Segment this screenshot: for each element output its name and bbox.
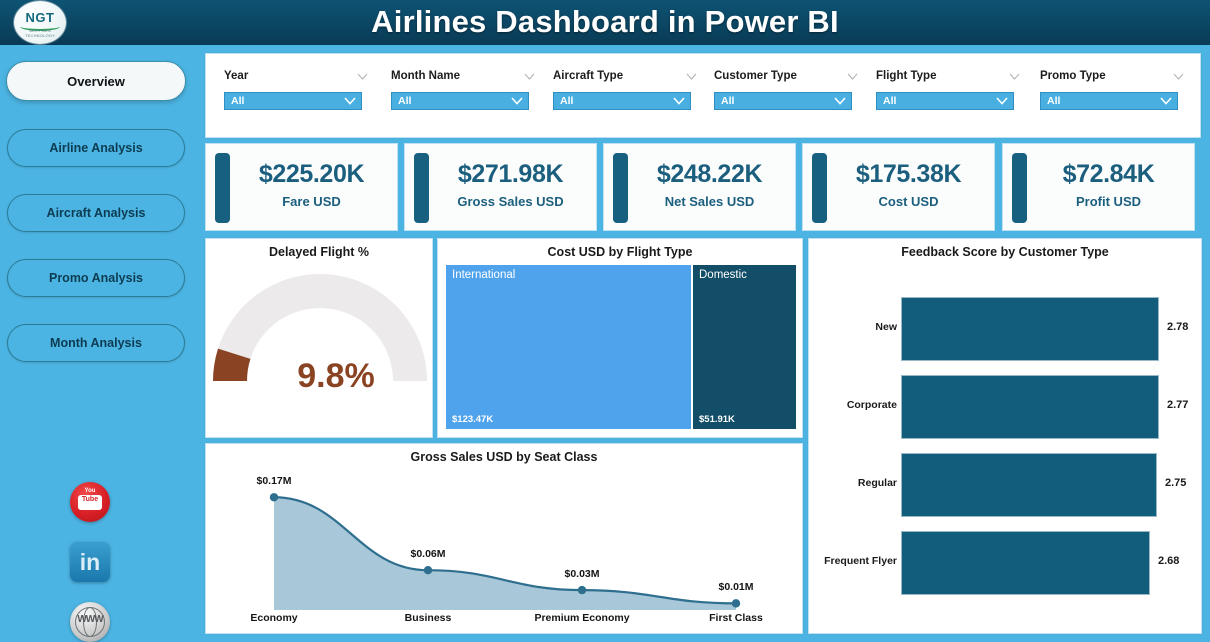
bar-rect[interactable] xyxy=(901,453,1157,517)
bar-rect[interactable] xyxy=(901,531,1150,595)
gauge-delayed-flight-pct[interactable]: Delayed Flight % 9.8% xyxy=(205,238,433,438)
sidebar-item-overview[interactable]: Overview xyxy=(6,61,186,101)
chevron-down-icon xyxy=(686,73,697,80)
slicer-customer-type-value[interactable]: All xyxy=(714,92,852,110)
bar-row-regular: Regular 2.75 xyxy=(809,447,1203,525)
area-point-label: $0.03M xyxy=(556,568,608,580)
chevron-down-icon xyxy=(524,73,535,80)
page-title: Airlines Dashboard in Power BI xyxy=(0,0,1210,45)
area-axis-tick-label: Economy xyxy=(219,612,329,624)
treemap-cell-value: $123.47K xyxy=(452,414,493,425)
slicer-year[interactable]: Year All xyxy=(224,70,376,122)
area-data-point[interactable] xyxy=(578,586,586,594)
bar-value-label: 2.68 xyxy=(1158,555,1179,567)
treemap-cell-international[interactable]: International $123.47K xyxy=(446,265,691,429)
gauge-value-label: 9.8% xyxy=(206,357,432,396)
area-axis-tick-label: Business xyxy=(373,612,483,624)
slicer-flight-type[interactable]: Flight Type All xyxy=(876,70,1028,122)
bar-row-new: New 2.78 xyxy=(809,291,1203,369)
bar-category-label: Regular xyxy=(817,477,897,489)
sidebar: Overview Airline Analysis Aircraft Analy… xyxy=(0,45,197,642)
kpi-accent-bar xyxy=(215,153,230,223)
slicer-flight-type-value[interactable]: All xyxy=(876,92,1014,110)
bar-value-label: 2.75 xyxy=(1165,477,1186,489)
slicer-customer-type[interactable]: Customer Type All xyxy=(714,70,866,122)
sidebar-item-label: Airline Analysis xyxy=(49,141,142,155)
bar-category-label: New xyxy=(817,321,897,333)
treemap-cost-by-flight-type[interactable]: Cost USD by Flight Type International $1… xyxy=(437,238,803,438)
chevron-down-icon xyxy=(834,97,846,105)
sidebar-item-label: Promo Analysis xyxy=(49,271,143,285)
kpi-accent-bar xyxy=(812,153,827,223)
chevron-down-icon xyxy=(1160,97,1172,105)
slicer-aircraft-type[interactable]: Aircraft Type All xyxy=(553,70,705,122)
area-chart-gross-sales-by-seat-class[interactable]: Gross Sales USD by Seat Class $0.17M $0.… xyxy=(205,443,803,634)
chevron-down-icon xyxy=(847,73,858,80)
area-chart-visual xyxy=(206,462,804,637)
chevron-down-icon xyxy=(1009,73,1020,80)
website-icon[interactable]: WWW xyxy=(70,602,110,642)
kpi-label: Gross Sales USD xyxy=(431,194,590,209)
kpi-card-gross-sales-usd[interactable]: $271.98K Gross Sales USD xyxy=(404,143,597,231)
gauge-title: Delayed Flight % xyxy=(206,245,432,259)
bar-row-corporate: Corporate 2.77 xyxy=(809,369,1203,447)
slicer-customer-type-value-text: All xyxy=(721,95,734,107)
kpi-value: $225.20K xyxy=(232,160,391,189)
sidebar-item-promo-analysis[interactable]: Promo Analysis xyxy=(7,259,185,297)
area-data-point[interactable] xyxy=(424,566,432,574)
chevron-down-icon xyxy=(344,97,356,105)
kpi-card-cost-usd[interactable]: $175.38K Cost USD xyxy=(802,143,995,231)
slicer-aircraft-type-label: Aircraft Type xyxy=(553,70,623,82)
kpi-accent-bar xyxy=(1012,153,1027,223)
slicer-year-value-text: All xyxy=(231,95,244,107)
area-axis-tick-label: First Class xyxy=(681,612,791,624)
area-data-point[interactable] xyxy=(270,493,278,501)
kpi-value: $72.84K xyxy=(1029,160,1188,189)
slicer-month-name-label: Month Name xyxy=(391,70,460,82)
area-axis-tick-label: Premium Economy xyxy=(527,612,637,624)
treemap-title: Cost USD by Flight Type xyxy=(438,245,802,259)
kpi-accent-bar xyxy=(414,153,429,223)
slicer-customer-type-label: Customer Type xyxy=(714,70,797,82)
kpi-label: Profit USD xyxy=(1029,194,1188,209)
area-point-label: $0.06M xyxy=(402,548,454,560)
dashboard-root: NGT NEXT GEN TECHNOLOGY Airlines Dashboa… xyxy=(0,0,1210,642)
chevron-down-icon xyxy=(511,97,523,105)
kpi-label: Net Sales USD xyxy=(630,194,789,209)
slicer-promo-type-value-text: All xyxy=(1047,95,1060,107)
kpi-label: Fare USD xyxy=(232,194,391,209)
kpi-accent-bar xyxy=(613,153,628,223)
bar-rect[interactable] xyxy=(901,375,1159,439)
sidebar-item-month-analysis[interactable]: Month Analysis xyxy=(7,324,185,362)
youtube-icon-label: You xyxy=(70,488,110,494)
report-canvas: Year All Month Name All Aircraft Type xyxy=(197,45,1210,642)
slicer-flight-type-value-text: All xyxy=(883,95,896,107)
sidebar-item-label: Month Analysis xyxy=(50,336,142,350)
slicer-year-value[interactable]: All xyxy=(224,92,362,110)
sidebar-item-label: Overview xyxy=(67,74,125,89)
linkedin-icon[interactable]: in xyxy=(70,542,110,582)
slicer-panel: Year All Month Name All Aircraft Type xyxy=(205,53,1201,138)
area-data-point[interactable] xyxy=(732,599,740,607)
chevron-down-icon xyxy=(1173,73,1184,80)
kpi-card-net-sales-usd[interactable]: $248.22K Net Sales USD xyxy=(603,143,796,231)
slicer-aircraft-type-value-text: All xyxy=(560,95,573,107)
bar-category-label: Corporate xyxy=(817,399,897,411)
kpi-card-fare-usd[interactable]: $225.20K Fare USD xyxy=(205,143,398,231)
chevron-down-icon xyxy=(673,97,685,105)
sidebar-item-label: Aircraft Analysis xyxy=(47,206,146,220)
bar-rect[interactable] xyxy=(901,297,1159,361)
youtube-icon[interactable]: You Tube xyxy=(70,482,110,522)
website-icon-label: WWW xyxy=(70,614,110,625)
treemap-cell-value: $51.91K xyxy=(699,414,735,425)
area-point-label: $0.01M xyxy=(710,581,762,593)
bar-value-label: 2.77 xyxy=(1167,399,1188,411)
treemap-cell-label: Domestic xyxy=(699,269,747,281)
kpi-label: Cost USD xyxy=(829,194,988,209)
bar-row-frequent-flyer: Frequent Flyer 2.68 xyxy=(809,525,1203,603)
bar-chart-feedback-by-customer-type[interactable]: Feedback Score by Customer Type New 2.78… xyxy=(808,238,1202,634)
kpi-value: $271.98K xyxy=(431,160,590,189)
slicer-flight-type-label: Flight Type xyxy=(876,70,936,82)
kpi-card-profit-usd[interactable]: $72.84K Profit USD xyxy=(1002,143,1195,231)
slicer-promo-type-value[interactable]: All xyxy=(1040,92,1178,110)
slicer-month-name-value-text: All xyxy=(398,95,411,107)
kpi-value: $175.38K xyxy=(829,160,988,189)
youtube-icon-label2: Tube xyxy=(78,496,102,503)
area-point-label: $0.17M xyxy=(248,475,300,487)
app-header: NGT NEXT GEN TECHNOLOGY Airlines Dashboa… xyxy=(0,0,1210,45)
chevron-down-icon xyxy=(996,97,1008,105)
slicer-year-label: Year xyxy=(224,70,248,82)
sidebar-item-aircraft-analysis[interactable]: Aircraft Analysis xyxy=(7,194,185,232)
linkedin-icon-label: in xyxy=(70,548,110,576)
slicer-promo-type-label: Promo Type xyxy=(1040,70,1106,82)
sidebar-item-airline-analysis[interactable]: Airline Analysis xyxy=(7,129,185,167)
bar-value-label: 2.78 xyxy=(1167,321,1188,333)
slicer-promo-type[interactable]: Promo Type All xyxy=(1040,70,1192,122)
treemap-cell-domestic[interactable]: Domestic $51.91K xyxy=(693,265,796,429)
slicer-aircraft-type-value[interactable]: All xyxy=(553,92,691,110)
treemap-cell-label: International xyxy=(452,269,515,281)
bar-category-label: Frequent Flyer xyxy=(817,555,897,567)
kpi-value: $248.22K xyxy=(630,160,789,189)
slicer-month-name-value[interactable]: All xyxy=(391,92,529,110)
slicer-month-name[interactable]: Month Name All xyxy=(391,70,543,122)
bar-chart-title: Feedback Score by Customer Type xyxy=(809,245,1201,259)
chevron-down-icon xyxy=(357,73,368,80)
